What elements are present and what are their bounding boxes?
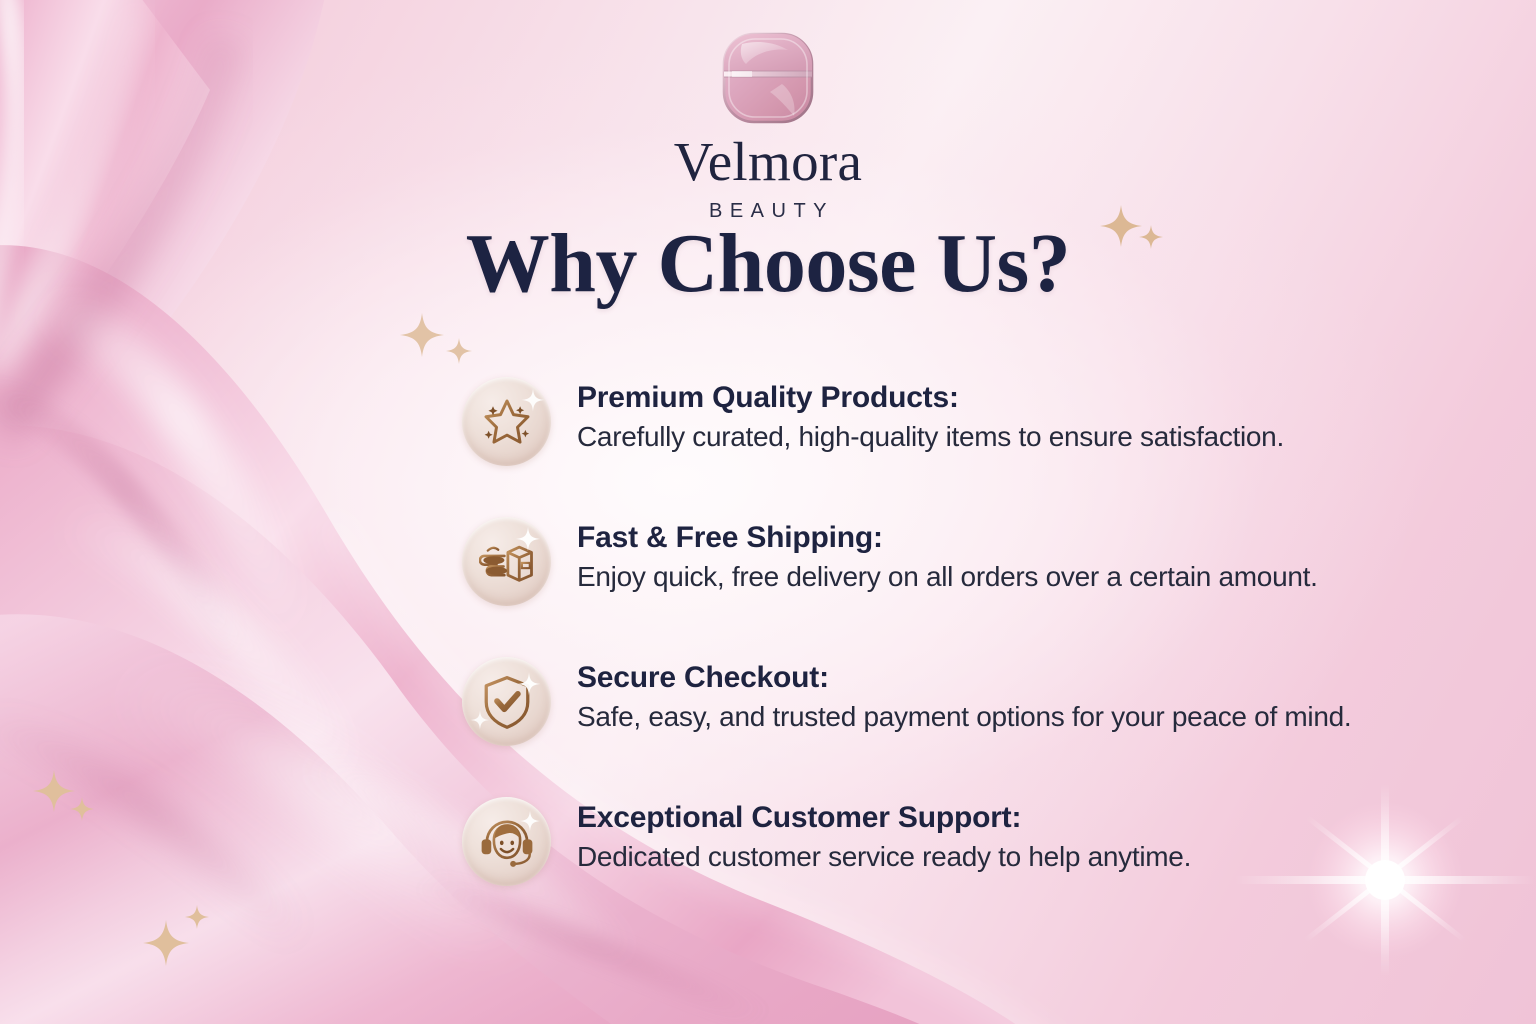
brand-name: Velmora bbox=[0, 134, 1536, 189]
feature-title: Secure Checkout: bbox=[577, 660, 1351, 695]
poster-canvas: Velmora BEAUTY Why Choose Us? bbox=[0, 0, 1536, 1024]
feature-list: Premium Quality Products: Carefully cura… bbox=[462, 374, 1462, 934]
feature-text-block: Exceptional Customer Support: Dedicated … bbox=[577, 794, 1191, 874]
fast-shipping-box-icon bbox=[462, 517, 551, 606]
sparkle-bottom-left-small-icon bbox=[70, 797, 94, 821]
headset-support-agent-icon bbox=[462, 797, 551, 886]
feature-title: Premium Quality Products: bbox=[577, 380, 1284, 415]
feature-title: Exceptional Customer Support: bbox=[577, 800, 1191, 835]
sparkle-headline-left-small-icon bbox=[446, 338, 472, 364]
feature-description: Dedicated customer service ready to help… bbox=[577, 840, 1191, 874]
list-item: Fast & Free Shipping: Enjoy quick, free … bbox=[462, 514, 1462, 654]
feature-description: Safe, easy, and trusted payment options … bbox=[577, 700, 1351, 734]
feature-description: Enjoy quick, free delivery on all orders… bbox=[577, 560, 1318, 594]
list-item: Secure Checkout: Safe, easy, and trusted… bbox=[462, 654, 1462, 794]
list-item: Premium Quality Products: Carefully cura… bbox=[462, 374, 1462, 514]
page-title: Why Choose Us? bbox=[0, 222, 1536, 306]
sparkle-star-icon bbox=[462, 377, 551, 466]
feature-text-block: Fast & Free Shipping: Enjoy quick, free … bbox=[577, 514, 1318, 594]
list-item: Exceptional Customer Support: Dedicated … bbox=[462, 794, 1462, 934]
sparkle-bottom-center-large-icon bbox=[143, 920, 189, 966]
sparkle-bottom-center-small-icon bbox=[185, 905, 209, 929]
feature-description: Carefully curated, high-quality items to… bbox=[577, 420, 1284, 454]
brand-logo-block: Velmora BEAUTY bbox=[0, 26, 1536, 221]
sparkle-bottom-left-large-icon bbox=[33, 770, 75, 812]
feature-text-block: Secure Checkout: Safe, easy, and trusted… bbox=[577, 654, 1351, 734]
cosmetic-jar-icon bbox=[712, 26, 824, 130]
sparkle-headline-left-large-icon bbox=[400, 313, 444, 357]
feature-text-block: Premium Quality Products: Carefully cura… bbox=[577, 374, 1284, 454]
feature-title: Fast & Free Shipping: bbox=[577, 520, 1318, 555]
shield-check-icon bbox=[462, 657, 551, 746]
